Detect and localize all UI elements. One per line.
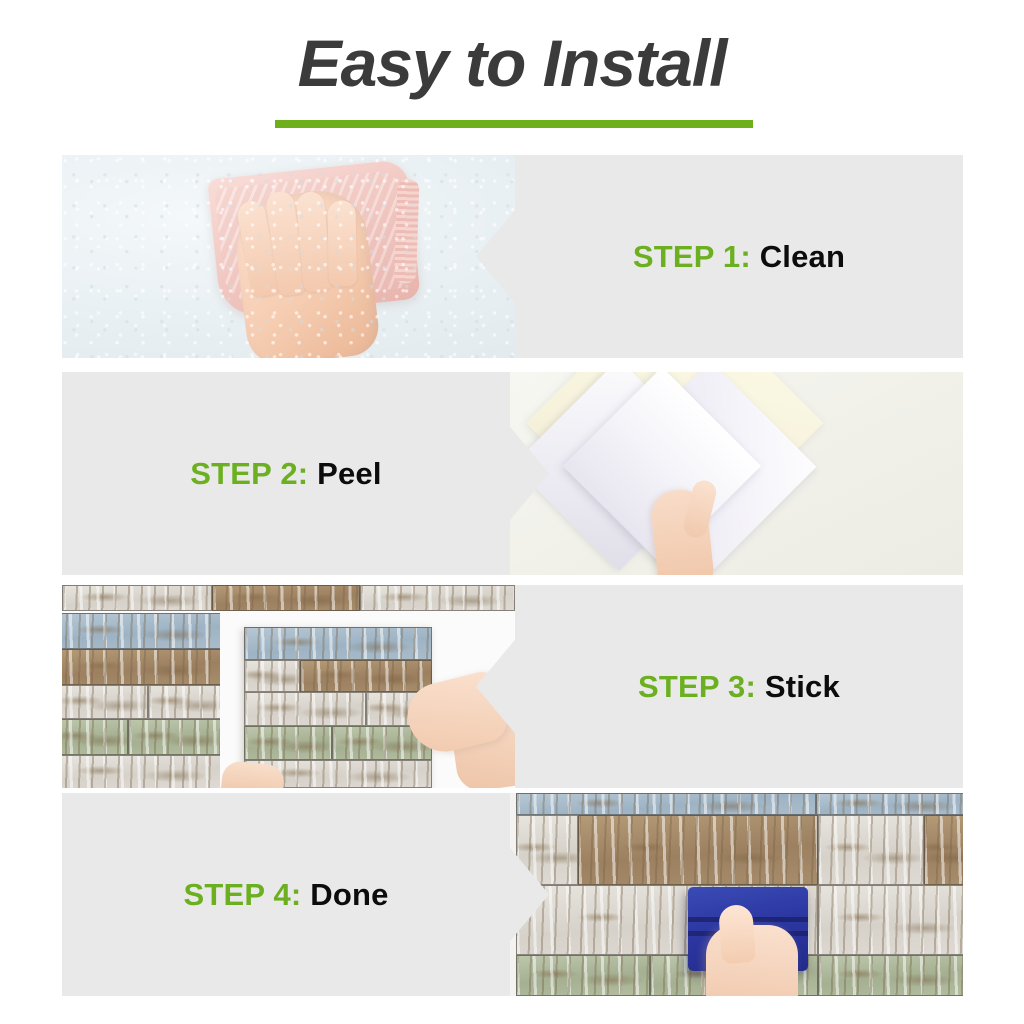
pink-cloth <box>207 159 421 319</box>
step-row-3: STEP 3: Stick <box>62 585 963 788</box>
step-3-photo <box>62 585 515 788</box>
step-3-text: STEP 3: Stick <box>638 668 840 706</box>
panel-plank <box>244 692 366 726</box>
step-4-label: STEP 4: <box>183 877 301 912</box>
step-1-photo <box>62 155 515 358</box>
step-row-1: STEP 1: Clean <box>62 155 963 358</box>
panel-plank <box>244 660 300 692</box>
smoothing-thumb <box>718 904 756 964</box>
wall-plank <box>62 755 220 788</box>
step-row-4: STEP 4: Done <box>62 793 963 996</box>
step-2-caption: STEP 2: Peel <box>62 372 510 575</box>
wall-plank <box>360 585 515 611</box>
wall-plank <box>212 585 360 611</box>
step-2-text: STEP 2: Peel <box>190 455 381 493</box>
wall-plank <box>62 613 220 649</box>
step-4-text: STEP 4: Done <box>183 876 388 914</box>
step-row-2: STEP 2: Peel <box>62 372 963 575</box>
step-4-action: Done <box>310 877 388 912</box>
stick-panel-scene <box>62 585 515 788</box>
wall-plank <box>148 685 220 719</box>
page-title: Easy to Install <box>0 24 1024 102</box>
wall-plank <box>818 885 963 955</box>
wall-plank <box>516 793 816 815</box>
infographic-page: Easy to Install STEP 1: Clean <box>0 0 1024 1024</box>
wall-plank <box>818 815 924 885</box>
finger <box>295 191 332 293</box>
wall-plank <box>62 719 128 755</box>
step-2-label: STEP 2: <box>190 456 308 491</box>
finger <box>265 190 307 297</box>
wall-plank <box>816 793 963 815</box>
wall-plank <box>924 815 963 885</box>
step-1-action: Clean <box>760 239 845 274</box>
wall-plank <box>62 685 148 719</box>
peel-backing-scene <box>510 372 963 575</box>
wall-plank <box>818 955 963 996</box>
wall-plank <box>516 955 650 996</box>
step-3-action: Stick <box>765 669 840 704</box>
finished-wall-scene <box>510 793 963 996</box>
wiping-hand <box>230 186 381 358</box>
step-2-photo <box>510 372 963 575</box>
finger <box>327 200 356 286</box>
wall-plank <box>62 649 220 685</box>
panel-plank <box>244 726 332 760</box>
step-4-caption: STEP 4: Done <box>62 793 510 996</box>
cloth-hem <box>394 179 420 284</box>
wall-plank <box>128 719 220 755</box>
wall-plank <box>578 815 818 885</box>
step-1-caption: STEP 1: Clean <box>515 155 963 358</box>
panel-plank <box>244 627 432 660</box>
existing-wall-left <box>62 585 220 788</box>
header: Easy to Install <box>0 0 1024 150</box>
step-3-caption: STEP 3: Stick <box>515 585 963 788</box>
title-underline-rule <box>275 120 753 128</box>
step-3-label: STEP 3: <box>638 669 756 704</box>
held-panel <box>244 627 432 788</box>
panel-plank <box>300 660 432 692</box>
finger <box>235 199 281 299</box>
step-1-text: STEP 1: Clean <box>633 238 845 276</box>
step-4-photo <box>510 793 963 996</box>
step-2-action: Peel <box>317 456 382 491</box>
step-1-label: STEP 1: <box>633 239 751 274</box>
clean-wall-scene <box>62 155 515 358</box>
